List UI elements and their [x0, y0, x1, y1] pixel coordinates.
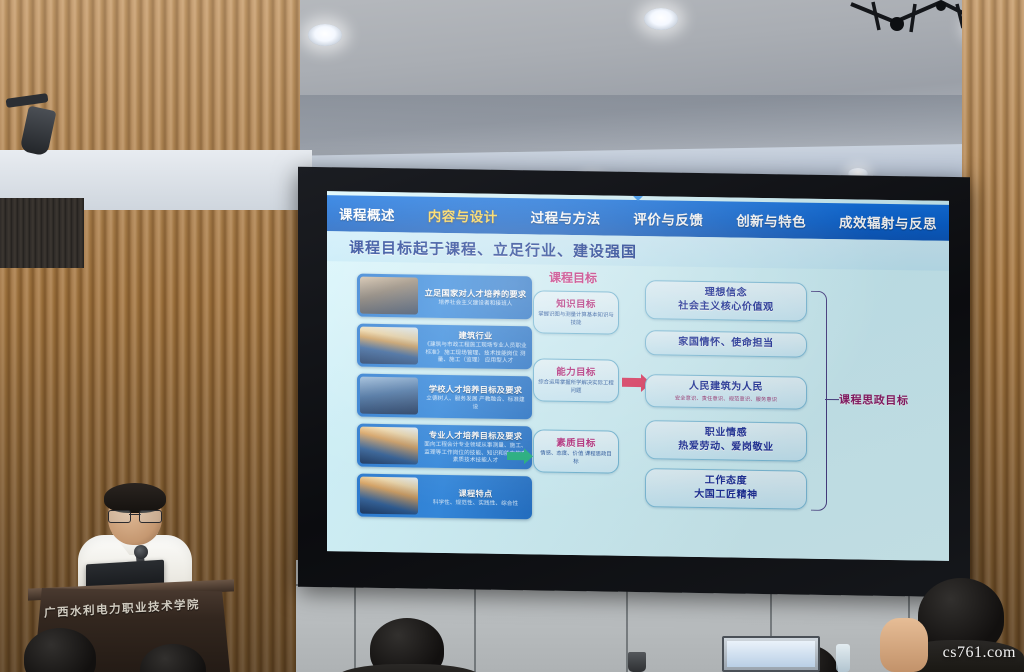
ideology-group-brace-icon [811, 291, 827, 511]
ideology-line-1: 人民建筑为人民 [652, 379, 800, 395]
goal-heading: 素质目标 [538, 434, 614, 449]
ideology-group-label: 课程思政目标 [839, 391, 937, 409]
slide-body: 立足国家对人才培养的要求 培养社会主义建设者和接班人 建筑行业 《建筑与市政工程… [327, 263, 949, 561]
presentation-slide: 课程概述 内容与设计 过程与方法 评价与反馈 创新与特色 成效辐射与反思 课程目… [327, 191, 949, 561]
dark-wall-strip [0, 198, 84, 268]
source-card-course-features: 课程特点 科学性、规范性、实践性、综合性 [357, 474, 532, 520]
thumbnail-overlay [360, 327, 418, 365]
audience-laptop[interactable] [722, 636, 820, 672]
thumbnail-overlay [360, 277, 418, 315]
goal-subtext: 情感、态度、价值 课程思政目标 [538, 450, 614, 467]
card-thumbnail-campus [360, 377, 418, 415]
goal-card-quality: 素质目标 情感、态度、价值 课程思政目标 [533, 429, 619, 473]
ideology-card-ideal-belief: 理想信念 社会主义核心价值观 [645, 280, 807, 322]
goal-card-knowledge: 知识目标 掌握识图与测量计算基本知识与技能 [533, 290, 619, 334]
microphone-head [134, 545, 148, 559]
water-bottle [836, 644, 850, 672]
goal-subtext: 掌握识图与测量计算基本知识与技能 [538, 311, 614, 328]
card-thumbnail-bridge-dusk [360, 477, 418, 515]
card-thumbnail-construction-site [360, 327, 418, 365]
card-heading: 建筑行业 [459, 329, 493, 342]
card-text: 建筑行业 《建筑与市政工程施工现场专业人员职业标准》 施工现场管理、技术技能岗位… [421, 325, 532, 370]
projection-screen[interactable]: 课程概述 内容与设计 过程与方法 评价与反馈 创新与特色 成效辐射与反思 课程目… [327, 191, 949, 561]
ideology-card-work-attitude: 工作态度 大国工匠精神 [645, 468, 807, 510]
card-thumbnail-bridge [360, 427, 418, 465]
source-card-major-talent-goal: 专业人才培养目标及要求 面向工程会计专业领域从事测量、施工、监理等工作岗位的技能… [357, 424, 532, 470]
presenter-hair [104, 483, 166, 513]
ideology-subtext: 安全意识、责任意识、规范意识、服务意识 [652, 394, 800, 403]
ideology-line-2: 大国工匠精神 [652, 487, 800, 503]
nav-tab-innovation-features[interactable]: 创新与特色 [736, 210, 806, 231]
source-card-list: 立足国家对人才培养的要求 培养社会主义建设者和接班人 建筑行业 《建筑与市政工程… [357, 274, 532, 527]
card-text: 立足国家对人才培养的要求 培养社会主义建设者和接班人 [421, 275, 532, 320]
arrow-ability-to-ideology-icon [622, 378, 642, 387]
card-heading: 学校人才培养目标及要求 [429, 383, 522, 396]
nav-tab-content-design[interactable]: 内容与设计 [428, 205, 498, 226]
ideology-card-architecture-for-people: 人民建筑为人民 安全意识、责任意识、规范意识、服务意识 [645, 374, 807, 410]
card-text: 学校人才培养目标及要求 立德树人、服务发展 产教融合、标准建设 [421, 375, 532, 420]
card-heading: 立足国家对人才培养的要求 [425, 286, 527, 300]
ideology-line-1: 家国情怀、使命担当 [652, 335, 800, 351]
wood-wall-right [962, 0, 1024, 672]
goal-card-ability: 能力目标 综合运用掌握所学解决实际工程问题 [533, 358, 619, 402]
ideology-group-brace-stub-icon [825, 399, 839, 400]
card-text: 专业人才培养目标及要求 面向工程会计专业领域从事测量、施工、监理等工作岗位的技能… [421, 425, 532, 470]
goal-heading: 知识目标 [538, 295, 614, 310]
ceiling-downlight-2 [644, 8, 678, 30]
ideology-card-professional-emotion: 职业情感 热爱劳动、爱岗敬业 [645, 420, 807, 462]
source-card-school-talent-goal: 学校人才培养目标及要求 立德树人、服务发展 产教融合、标准建设 [357, 374, 532, 420]
source-card-construction-industry: 建筑行业 《建筑与市政工程施工现场专业人员职业标准》 施工现场管理、技术技能岗位… [357, 324, 532, 370]
thumbnail-overlay [360, 377, 418, 415]
ceiling-downlight-1 [308, 24, 342, 46]
thumbnail-overlay [360, 477, 418, 515]
card-subtext: 《建筑与市政工程施工现场专业人员职业标准》 施工现场管理、技术技能岗位 测量、施… [424, 342, 527, 366]
presenter-glasses-icon [108, 510, 162, 521]
audience-laptop-screen [727, 641, 815, 667]
glasses-bridge [129, 514, 141, 515]
goal-heading: 能力目标 [538, 363, 614, 378]
arrow-to-quality-goal-icon [507, 452, 525, 460]
nav-tab-process-method[interactable]: 过程与方法 [531, 206, 601, 227]
card-heading: 专业人才培养目标及要求 [429, 429, 522, 442]
card-heading: 课程特点 [459, 487, 493, 500]
ideology-line-2: 社会主义核心价值观 [652, 299, 800, 315]
nav-tab-course-overview[interactable]: 课程概述 [339, 203, 395, 224]
slide-title: 课程目标起于课程、立足行业、建设强国 [349, 236, 637, 262]
ideology-card-patriotism-mission: 家国情怀、使命担当 [645, 330, 807, 358]
audience-arm [880, 618, 928, 672]
card-subtext: 立德树人、服务发展 产教融合、标准建设 [424, 396, 527, 413]
goal-subtext: 综合运用掌握所学解决实际工程问题 [538, 379, 614, 396]
card-text: 课程特点 科学性、规范性、实践性、综合性 [421, 475, 532, 520]
nav-tab-evaluation-feedback[interactable]: 评价与反馈 [633, 208, 703, 229]
nav-tab-impact-reflection[interactable]: 成效辐射与反思 [839, 211, 937, 233]
thumbnail-overlay [360, 427, 418, 465]
course-goal-column-label: 课程目标 [549, 269, 597, 287]
source-card-national-requirement: 立足国家对人才培养的要求 培养社会主义建设者和接班人 [357, 274, 532, 320]
card-thumbnail-leader-photo [360, 277, 418, 315]
lecture-hall-photo: 课程概述 内容与设计 过程与方法 评价与反馈 创新与特色 成效辐射与反思 课程目… [0, 0, 1024, 672]
audience-mug [628, 652, 646, 672]
card-subtext: 培养社会主义建设者和接班人 [438, 300, 512, 309]
ideology-line-2: 热爱劳动、爱岗敬业 [652, 439, 800, 455]
card-subtext: 科学性、规范性、实践性、综合性 [433, 499, 518, 508]
watermark: cs761.com [943, 644, 1016, 662]
wood-wall-right-shading [962, 0, 1024, 672]
